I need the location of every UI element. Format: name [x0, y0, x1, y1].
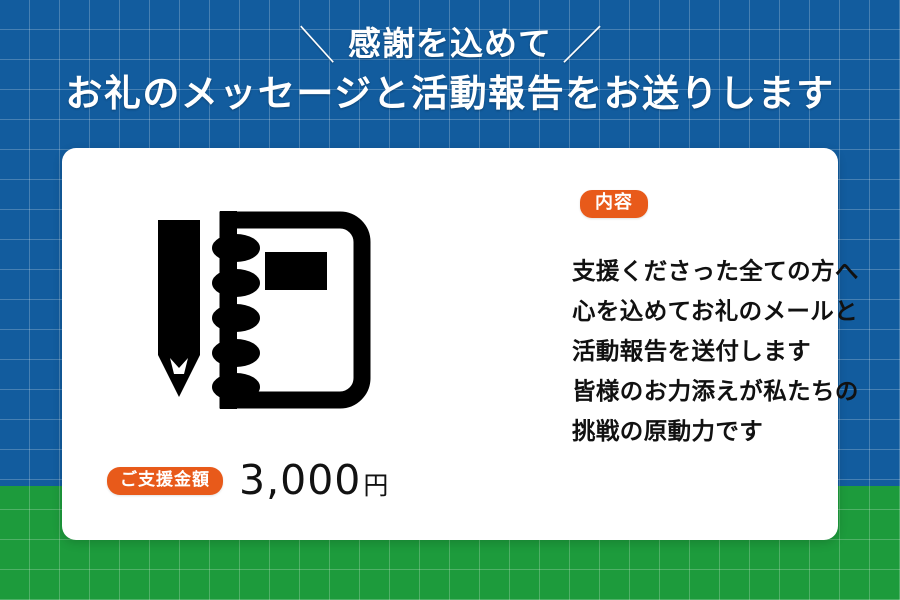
reward-card: ご支援金額 3,000 円 内容 支援くださった全ての方へ 心を込めてお礼のメー… [62, 148, 838, 540]
header-line-1: ＼ 感謝を込めて ／ [0, 22, 900, 66]
reward-description-line: 活動報告を送付します [572, 331, 900, 371]
support-amount-row: ご支援金額 3,000 円 [107, 460, 388, 501]
support-amount-value: 3,000 円 [239, 460, 388, 501]
support-amount-badge: ご支援金額 [107, 467, 223, 495]
page-header: ＼ 感謝を込めて ／ お礼のメッセージと活動報告をお送りします [0, 22, 900, 120]
reward-description-line: 心を込めてお礼のメールと [572, 291, 900, 331]
support-amount-unit: 円 [363, 473, 388, 498]
card-right-column: 内容 支援くださった全ての方へ 心を込めてお礼のメールと 活動報告を送付します … [502, 148, 838, 540]
reward-description-line: 支援くださった全ての方へ [572, 251, 900, 291]
reward-description: 支援くださった全ての方へ 心を込めてお礼のメールと 活動報告を送付します 皆様の… [572, 251, 900, 451]
header-title-secondary: お礼のメッセージと活動報告をお送りします [0, 68, 900, 120]
slash-left-icon: ＼ [299, 26, 336, 66]
card-left-column: ご支援金額 3,000 円 [62, 148, 482, 540]
support-amount-number: 3,000 [239, 460, 361, 501]
reward-description-line: 皆様のお力添えが私たちの [572, 371, 900, 411]
content-label-badge: 内容 [580, 190, 648, 218]
header-title-primary: 感謝を込めて [348, 22, 552, 66]
notebook-and-pencil-icon [140, 200, 380, 420]
reward-description-line: 挑戦の原動力です [572, 411, 900, 451]
return-reward-card-screen: ＼ 感謝を込めて ／ お礼のメッセージと活動報告をお送りします [0, 0, 900, 600]
slash-right-icon: ／ [562, 26, 603, 66]
